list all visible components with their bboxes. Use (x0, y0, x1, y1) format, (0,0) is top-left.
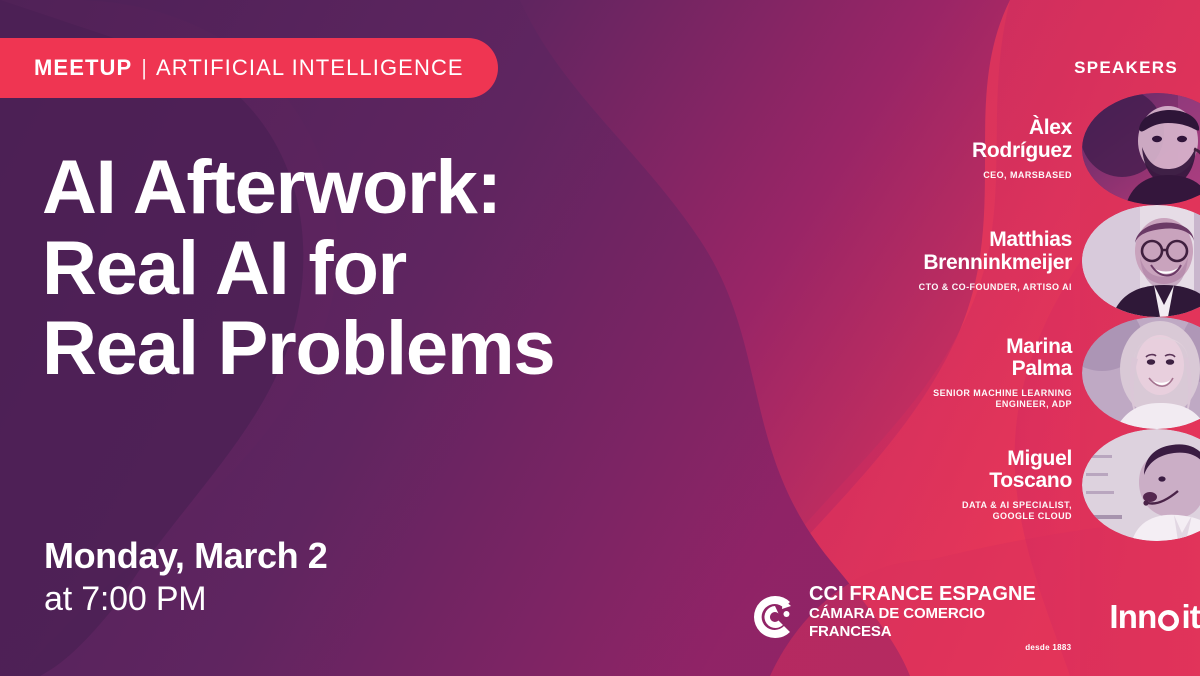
speaker-role-line-1: CTO & CO-FOUNDER, ARTISO AI (782, 282, 1072, 293)
event-poster: MEETUP | ARTIFICIAL INTELLIGENCE AI Afte… (0, 0, 1200, 676)
speaker-name-line-1: Marina (782, 336, 1072, 359)
speaker-role: DATA & AI SPECIALIST, GOOGLE CLOUD (782, 500, 1072, 523)
innoit-o-icon (1157, 609, 1180, 632)
sponsor-logos: CCI FRANCE ESPAGNE CÁMARA DE COMERCIO FR… (752, 583, 1200, 652)
innoit-part-1: Inn (1109, 598, 1156, 636)
speaker-role-line-1: CEO, MARSBASED (782, 170, 1072, 181)
speaker-name-line-1: Matthias (782, 229, 1072, 252)
speaker-name-line-2: Brenninkmeijer (782, 252, 1072, 275)
cci-line-2: CÁMARA DE COMERCIO FRANCESA (809, 605, 1071, 640)
speaker-photo-miguel-toscano (1082, 429, 1200, 541)
speaker-role: SENIOR MACHINE LEARNING ENGINEER, ADP (782, 388, 1072, 411)
cci-circle-logo-icon (752, 594, 798, 640)
speaker-photo-alex-rodriguez (1082, 93, 1200, 205)
speaker-role-line-2: GOOGLE CLOUD (782, 511, 1072, 522)
speaker-photo-matthias-brenninkmeijer (1082, 205, 1200, 317)
speakers-list: Àlex Rodríguez CEO, MARSBASED (730, 93, 1200, 541)
cci-logo: CCI FRANCE ESPAGNE CÁMARA DE COMERCIO FR… (752, 583, 1071, 652)
speaker-item: Miguel Toscano DATA & AI SPECIALIST, GOO… (730, 429, 1200, 541)
badge-light-text: ARTIFICIAL INTELLIGENCE (156, 55, 464, 81)
poster-title: AI Afterwork: Real AI for Real Problems (42, 148, 554, 390)
badge-strong-text: MEETUP (34, 55, 132, 81)
title-line-3: Real Problems (42, 309, 554, 390)
event-datetime: Monday, March 2 at 7:00 PM (44, 535, 327, 620)
speaker-role: CEO, MARSBASED (782, 170, 1072, 181)
speaker-text: Matthias Brenninkmeijer CTO & CO-FOUNDER… (782, 229, 1082, 293)
speaker-role: CTO & CO-FOUNDER, ARTISO AI (782, 282, 1072, 293)
innoit-part-3: it (1181, 598, 1200, 636)
speaker-text: Miguel Toscano DATA & AI SPECIALIST, GOO… (782, 448, 1082, 523)
speaker-text: Àlex Rodríguez CEO, MARSBASED (782, 117, 1082, 181)
speaker-item: Àlex Rodríguez CEO, MARSBASED (730, 93, 1200, 205)
meetup-badge: MEETUP | ARTIFICIAL INTELLIGENCE (0, 38, 498, 98)
speaker-name-line-1: Àlex (782, 117, 1072, 140)
speaker-name-line-1: Miguel (782, 448, 1072, 471)
badge-separator: | (141, 55, 147, 81)
cci-line-3: desde 1883 (1025, 643, 1071, 652)
speaker-role-line-1: SENIOR MACHINE LEARNING (782, 388, 1072, 399)
speakers-heading: SPEAKERS (1074, 58, 1178, 78)
speaker-name-line-2: Palma (782, 358, 1072, 381)
cci-line-1: CCI FRANCE ESPAGNE (809, 583, 1036, 605)
speaker-name-line-2: Rodríguez (782, 140, 1072, 163)
event-date: Monday, March 2 (44, 535, 327, 577)
speaker-role-line-2: ENGINEER, ADP (782, 399, 1072, 410)
title-line-1: AI Afterwork: (42, 148, 554, 229)
cci-logo-text: CCI FRANCE ESPAGNE CÁMARA DE COMERCIO FR… (809, 583, 1071, 652)
speaker-name-line-2: Toscano (782, 470, 1072, 493)
innoit-logo: Inn it (1109, 598, 1200, 636)
title-line-2: Real AI for (42, 229, 554, 310)
speaker-text: Marina Palma SENIOR MACHINE LEARNING ENG… (782, 336, 1082, 411)
speaker-item: Marina Palma SENIOR MACHINE LEARNING ENG… (730, 317, 1200, 429)
event-time: at 7:00 PM (44, 579, 327, 620)
speaker-photo-marina-palma (1082, 317, 1200, 429)
speaker-item: Matthias Brenninkmeijer CTO & CO-FOUNDER… (730, 205, 1200, 317)
speaker-role-line-1: DATA & AI SPECIALIST, (782, 500, 1072, 511)
